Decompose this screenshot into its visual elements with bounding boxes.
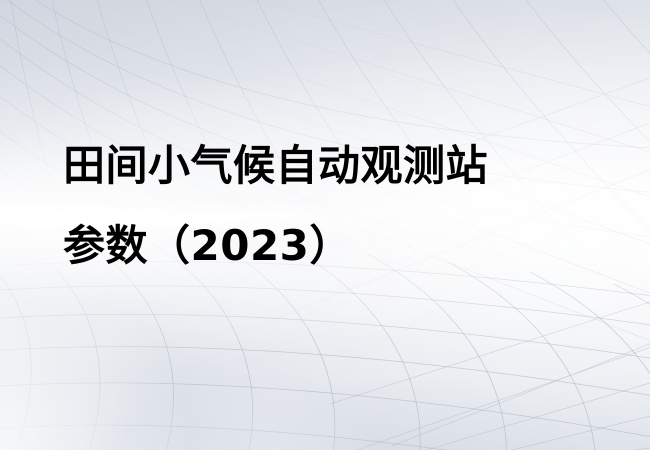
page-title: 田间小气候自动观测站 参数（2023） — [63, 126, 623, 286]
lower-mesh-latitudes — [0, 261, 650, 450]
title-line-2: 参数（2023） — [63, 206, 623, 286]
bottom-right-diagonals — [300, 286, 650, 450]
title-banner: 田间小气候自动观测站 参数（2023） — [0, 0, 650, 450]
title-line-1: 田间小气候自动观测站 — [63, 126, 623, 206]
